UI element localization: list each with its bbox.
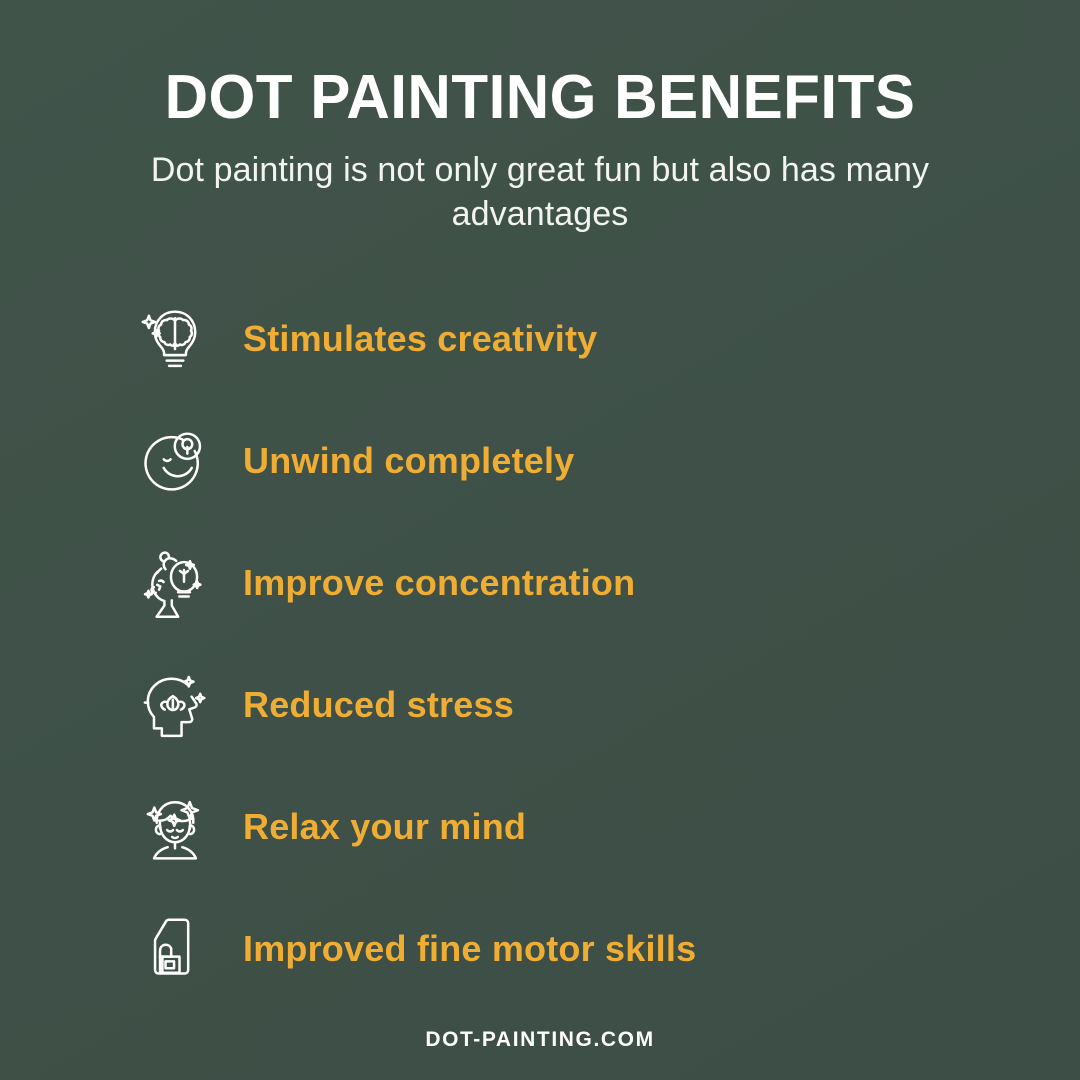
benefits-list: Stimulates creativity Unwind completely: [0, 278, 1080, 1010]
list-item: Improved fine motor skills: [133, 888, 696, 1010]
poster-footer: DOT-PAINTING.COM: [0, 1028, 1080, 1052]
benefit-label: Improve concentration: [243, 562, 635, 604]
page-title: DOT PAINTING BENEFITS: [16, 66, 1064, 129]
website-label: DOT-PAINTING.COM: [425, 1028, 654, 1051]
benefit-label: Reduced stress: [243, 684, 514, 726]
infographic-poster: DOT PAINTING BENEFITS Dot painting is no…: [0, 0, 1080, 1080]
hand-block-icon: [133, 907, 217, 991]
lightbulb-brain-icon: [133, 297, 217, 381]
benefit-label: Unwind completely: [243, 440, 574, 482]
benefit-label: Improved fine motor skills: [243, 928, 696, 970]
head-lotus-icon: [133, 663, 217, 747]
list-item: Reduced stress: [133, 644, 514, 766]
list-item: Relax your mind: [133, 766, 526, 888]
smiley-flower-icon: [133, 419, 217, 503]
poster-header: DOT PAINTING BENEFITS Dot painting is no…: [0, 0, 1080, 236]
list-item: Stimulates creativity: [133, 278, 597, 400]
list-item: Unwind completely: [133, 400, 574, 522]
page-subtitle: Dot painting is not only great fun but a…: [145, 149, 935, 236]
benefit-label: Relax your mind: [243, 806, 526, 848]
benefit-label: Stimulates creativity: [243, 318, 597, 360]
list-item: Improve concentration: [133, 522, 635, 644]
head-lightbulb-icon: [133, 541, 217, 625]
calm-face-sparkles-icon: [133, 785, 217, 869]
